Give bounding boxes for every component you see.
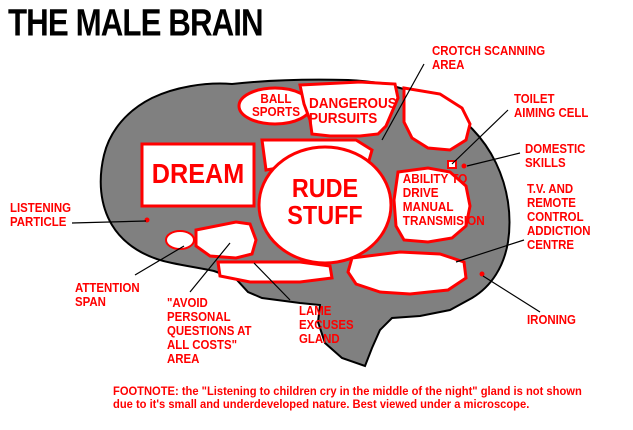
region-listening-particle — [145, 218, 150, 223]
region-attention-span — [166, 231, 194, 249]
region-label-rude-stuff: RUDE STUFF — [271, 175, 379, 228]
region-ironing — [480, 272, 485, 277]
callout-domestic-skills: DOMESTIC SKILLS — [525, 142, 585, 170]
region-domestic-skills — [462, 164, 467, 169]
region-avoid-personal-questions — [196, 222, 256, 258]
callout-ironing: IRONING — [527, 313, 576, 327]
region-label-dream: DREAM — [148, 160, 249, 189]
callout-attention-span: ATTENTION SPAN — [75, 281, 140, 309]
region-lower-right-blob — [348, 252, 466, 294]
callout-crotch-scanning-area: CROTCH SCANNING AREA — [432, 44, 545, 72]
leader-line-ironing — [483, 276, 540, 312]
footnote-text: FOOTNOTE: the "Listening to children cry… — [113, 385, 587, 411]
region-label-dangerous-pursuits: DANGEROUS PURSUITS — [309, 96, 399, 127]
region-label-ability-to-drive: ABILITY TO DRIVE MANUAL TRANSMISION — [403, 172, 489, 228]
region-label-ball-sports: BALL SPORTS — [244, 92, 309, 119]
callout-avoid-personal-questions: "AVOID PERSONAL QUESTIONS AT ALL COSTS" … — [167, 296, 252, 366]
region-crotch-scanning — [404, 88, 470, 150]
callout-tv-remote-addiction: T.V. AND REMOTE CONTROL ADDICTION CENTRE — [527, 182, 591, 252]
callout-listening-particle: LISTENING PARTICLE — [10, 201, 71, 229]
region-lame-excuses — [218, 262, 332, 282]
callout-toilet-aiming-cell: TOILET AIMING CELL — [514, 92, 588, 120]
callout-lame-excuses-gland: LAME EXCUSES GLAND — [299, 304, 354, 346]
male-brain-diagram: THE MALE BRAIN — [0, 0, 633, 430]
